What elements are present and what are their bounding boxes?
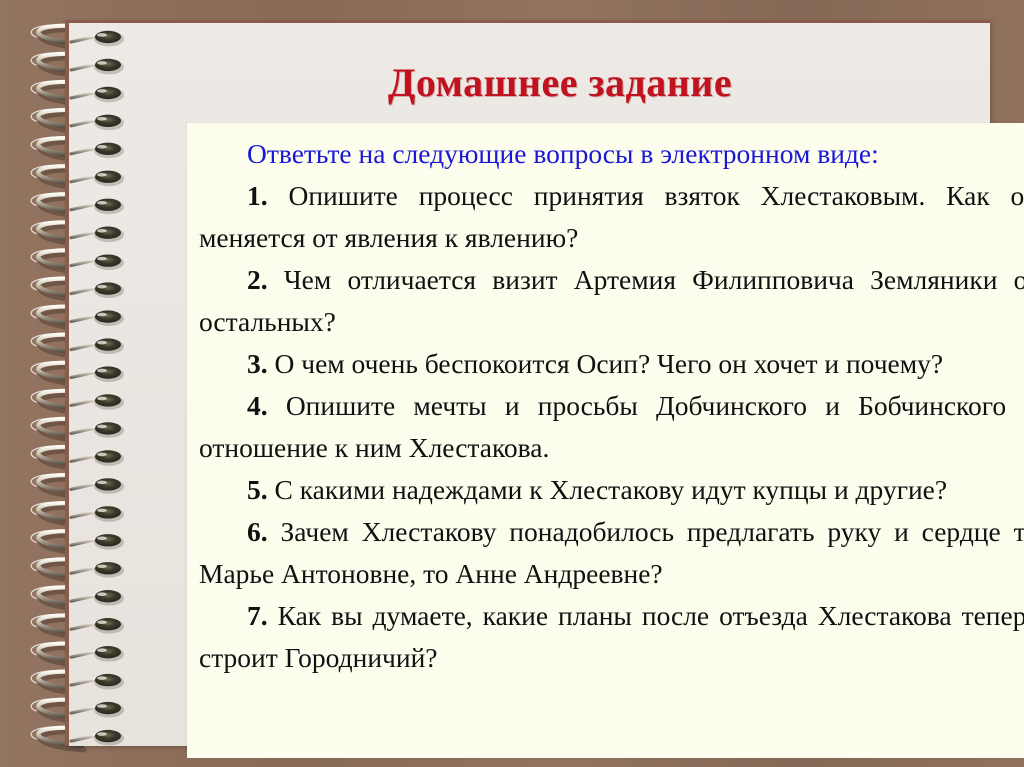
notepad-page: Домашнее задание Ответьте на следующие в…: [65, 20, 990, 746]
questions-body: Ответьте на следующие вопросы в электрон…: [199, 133, 1024, 679]
question-number: 7.: [247, 600, 278, 631]
question-item: 3. О чем очень беспокоится Осип? Чего он…: [199, 343, 1024, 385]
question-item: 7. Как вы думаете, какие планы после отъ…: [199, 595, 1024, 679]
question-text: О чем очень беспокоится Осип? Чего он хо…: [275, 348, 944, 379]
question-text: Опишите мечты и просьбы Добчинского и Бо…: [199, 390, 1024, 463]
content-panel: Ответьте на следующие вопросы в электрон…: [187, 123, 1024, 758]
lead-instruction: Ответьте на следующие вопросы в электрон…: [199, 133, 1024, 175]
question-text: Зачем Хлестакову понадобилось предлагать…: [199, 516, 1024, 589]
question-text: Чем отличается визит Артемия Филипповича…: [199, 264, 1024, 337]
question-item: 2. Чем отличается визит Артемия Филиппов…: [199, 259, 1024, 343]
question-text: С какими надеждами к Хлестакову идут куп…: [275, 474, 948, 505]
question-item: 4. Опишите мечты и просьбы Добчинского и…: [199, 385, 1024, 469]
question-number: 2.: [247, 264, 284, 295]
question-number: 1.: [247, 180, 288, 211]
question-number: 4.: [247, 390, 286, 421]
question-number: 6.: [247, 516, 281, 547]
question-item: 5. С какими надеждами к Хлестакову идут …: [199, 469, 1024, 511]
slide-canvas: Домашнее задание Ответьте на следующие в…: [0, 0, 1024, 767]
question-text: Опишите процесс принятия взяток Хлестако…: [199, 180, 1024, 253]
question-number: 5.: [247, 474, 275, 505]
question-item: 1. Опишите процесс принятия взяток Хлест…: [199, 175, 1024, 259]
question-text: Как вы думаете, какие планы после отъезд…: [199, 600, 1024, 673]
page-title: Домашнее задание: [388, 59, 732, 106]
question-number: 3.: [247, 348, 275, 379]
question-item: 6. Зачем Хлестакову понадобилось предлаг…: [199, 511, 1024, 595]
title-bar: Домашнее задание: [131, 49, 989, 115]
